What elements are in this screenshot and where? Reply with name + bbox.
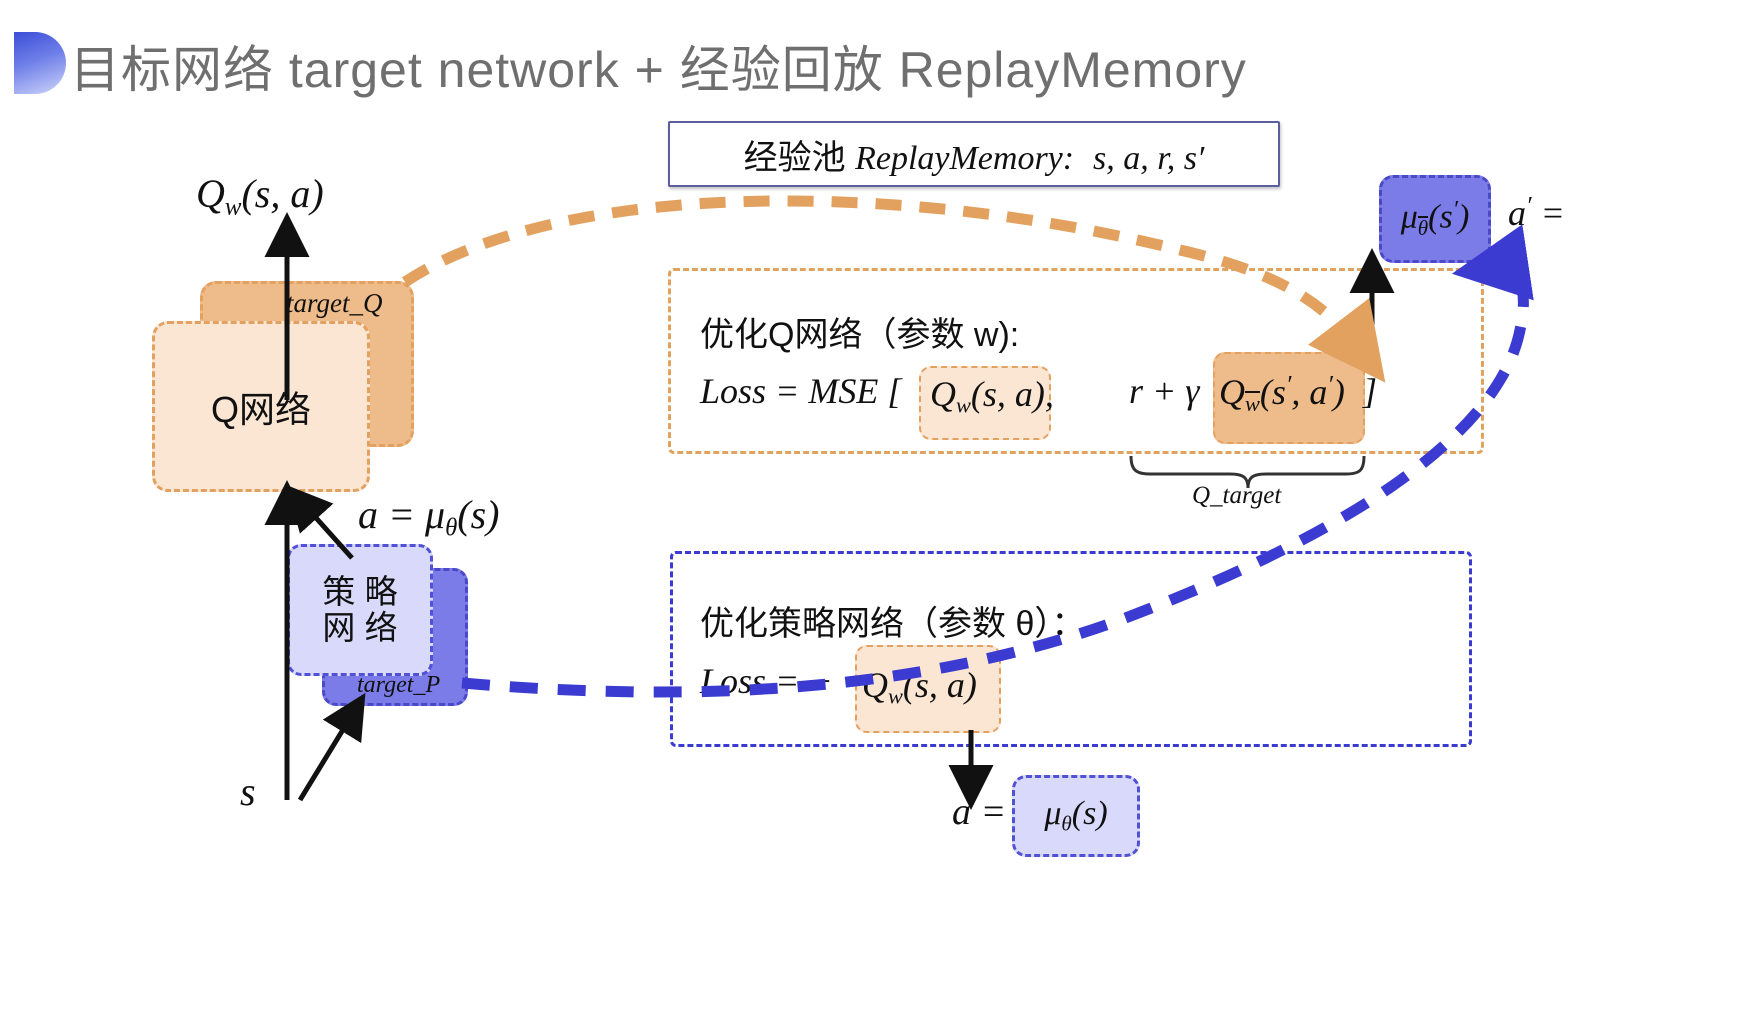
state-to-policy-arrow [300, 710, 355, 800]
policy-network-label-line2: 网 络 [322, 609, 397, 646]
replay-memory-tuple: s, a, r, s′ [1093, 140, 1204, 177]
q-output-label-text: Qw(s, a) [196, 171, 324, 216]
policy-network-label-line1: 策 略 [322, 573, 397, 610]
policy-network-box: 策 略 网 络 [287, 544, 433, 676]
page-title: 目标网络 target network + 经验回放 ReplayMemory [70, 30, 1247, 102]
q-highlight-qtarget-inner: Qw(s′, a′) [1219, 372, 1345, 412]
state-input-label: s [240, 768, 256, 815]
replay-memory-cjk-label: 经验池 [744, 139, 846, 177]
half-circle-bullet-icon [14, 32, 66, 94]
q-network-label: Q网络 [211, 381, 311, 433]
q-highlight-qw-inner: Qw(s, a), [930, 374, 1054, 414]
q-optimization-highlight-qw-text: Qw(s, a), [930, 373, 1054, 419]
bottom-action-prefix: a = [952, 790, 1006, 834]
q-target-brace-label: Q_target [1192, 482, 1281, 510]
replay-memory-name: ReplayMemory: [855, 140, 1074, 177]
policy-optimization-loss-prefix: Loss = − [700, 660, 833, 702]
q-output-label: Qw(s, a) [196, 170, 324, 221]
bottom-action-box-text: μθ(s) [1044, 795, 1107, 836]
q-network-box: Q网络 [152, 321, 370, 492]
a-prime-prefix-text: a′ = [1508, 193, 1565, 233]
q-optimization-reward-term: r + γ [1129, 370, 1200, 412]
policy-highlight-inner: Qw(s, a) [862, 665, 977, 705]
a-prime-value-text: μθ(s′) [1401, 197, 1470, 240]
policy-network-label: 策 略 网 络 [322, 574, 397, 645]
q-optimization-loss-prefix: Loss = MSE [ [700, 370, 901, 412]
replay-memory-text: 经验池 ReplayMemory: s, a, r, s′ [744, 130, 1205, 179]
a-prime-value-box: μθ(s′) [1379, 175, 1491, 263]
replay-memory-box: 经验池 ReplayMemory: s, a, r, s′ [668, 121, 1280, 187]
policy-optimization-title: 优化策略网络（参数 θ）： [700, 596, 1085, 645]
q-optimization-loss-suffix: ] [1363, 370, 1377, 412]
a-prime-prefix-label: a′ = [1508, 192, 1565, 234]
q-optimization-title: 优化Q网络（参数 w): [700, 307, 1019, 356]
policy-action-label-text: a = μθ(s) [358, 492, 499, 537]
policy-optimization-highlight-text: Qw(s, a) [862, 664, 977, 710]
q-optimization-highlight-qtarget-text: Qw(s′, a′) [1219, 371, 1345, 417]
slide-canvas: 目标网络 target network + 经验回放 ReplayMemory … [0, 0, 1746, 1036]
target-p-label: target_P [357, 672, 440, 699]
policy-optimization-panel [670, 551, 1472, 747]
bottom-action-prefix-text: a = [952, 791, 1006, 833]
bottom-action-box: μθ(s) [1012, 775, 1140, 857]
target-q-label: target_Q [286, 288, 383, 319]
policy-action-label: a = μθ(s) [358, 491, 499, 542]
